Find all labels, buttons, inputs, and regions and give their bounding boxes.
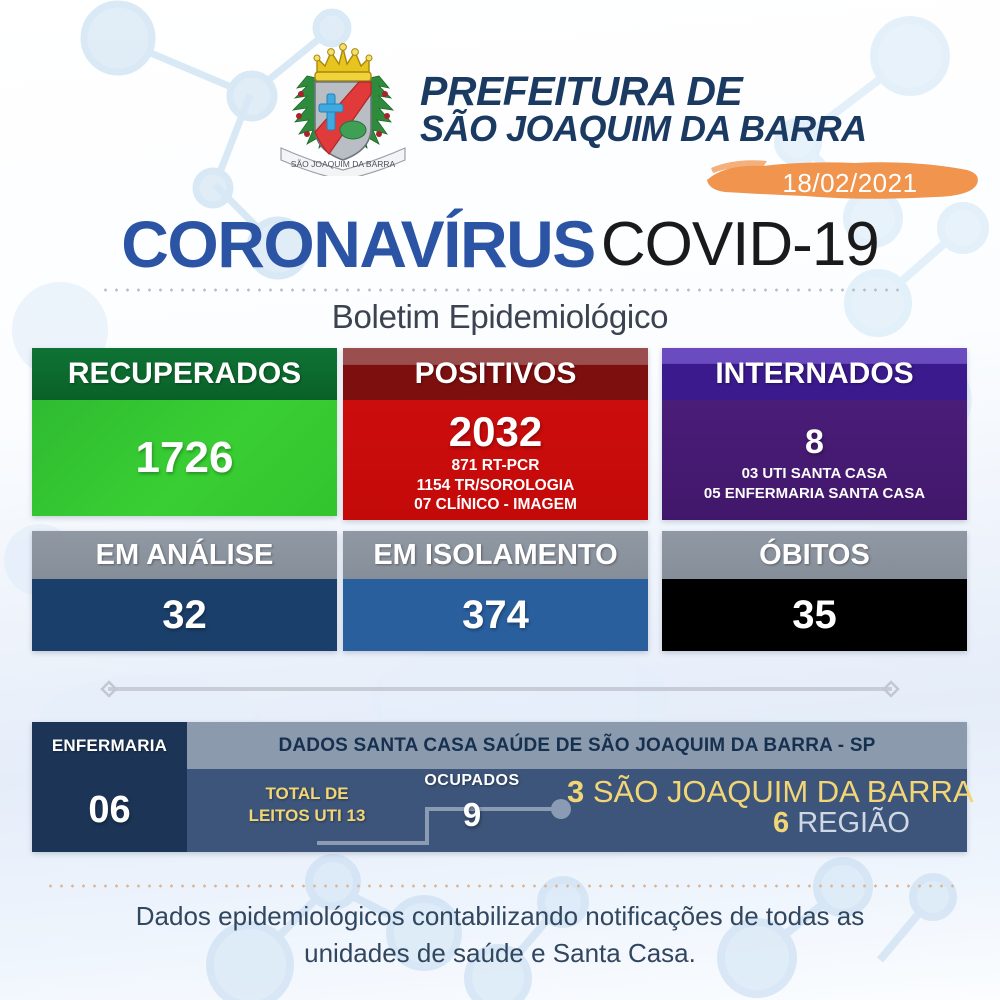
total-leitos-line1: TOTAL DE (217, 783, 397, 805)
title-dotted-divider (100, 288, 900, 292)
santa-casa-enfermaria-label: ENFERMARIA (32, 722, 187, 769)
santa-casa-title: DADOS SANTA CASA SAÚDE DE SÃO JOAQUIM DA… (187, 722, 967, 769)
breakdown-regiao-text: REGIÃO (797, 807, 910, 839)
stat-card-recuperados-value: 1726 (136, 436, 234, 480)
santa-casa-ocupados-value: 9 (392, 796, 552, 834)
santa-casa-enfermaria-value: 06 (32, 769, 187, 852)
stat-card-obitos: ÓBITOS 35 (662, 531, 967, 651)
stat-card-internados-label: INTERNADOS (662, 348, 967, 400)
footer-dotted-divider (45, 884, 955, 888)
positivos-detail-1: 871 RT-PCR (414, 456, 577, 476)
internados-detail-2: 05 ENFERMARIA SANTA CASA (704, 484, 925, 503)
footer-note-line1: Dados epidemiológicos contabilizando not… (60, 898, 940, 935)
stat-card-obitos-label: ÓBITOS (662, 531, 967, 579)
stat-card-internados-value: 8 (805, 425, 824, 459)
santa-casa-ocupados-label: OCUPADOS (392, 772, 552, 790)
stat-card-em-analise: EM ANÁLISE 32 (32, 531, 337, 651)
section-divider (92, 680, 908, 698)
municipality-title: PREFEITURA DE SÃO JOAQUIM DA BARRA (420, 72, 940, 147)
stat-card-em-analise-body: 32 (32, 579, 337, 651)
footer-note: Dados epidemiológicos contabilizando not… (60, 898, 940, 972)
stat-card-positivos-body: 2032 871 RT-PCR 1154 TR/SOROLOGIA 07 CLÍ… (343, 400, 648, 520)
prefeitura-line2: SÃO JOAQUIM DA BARRA (420, 112, 940, 147)
stat-card-internados-body: 8 03 UTI SANTA CASA 05 ENFERMARIA SANTA … (662, 400, 967, 520)
stat-card-em-analise-label: EM ANÁLISE (32, 531, 337, 579)
stat-card-em-analise-value: 32 (162, 595, 207, 635)
title-coronavirus: CORONAVÍRUS (121, 206, 595, 282)
stat-card-obitos-value: 35 (792, 595, 837, 635)
breakdown-local-text: SÃO JOAQUIM DA BARRA (593, 774, 974, 809)
stat-card-internados-details: 03 UTI SANTA CASA 05 ENFERMARIA SANTA CA… (704, 464, 925, 502)
stat-card-recuperados: RECUPERADOS 1726 (32, 348, 337, 516)
svg-text:SÃO JOAQUIM DA BARRA: SÃO JOAQUIM DA BARRA (291, 159, 396, 169)
breakdown-regiao-number: 6 (773, 807, 789, 839)
page-subtitle: Boletim Epidemiológico (0, 298, 1000, 336)
breakdown-row-regiao: 6 REGIÃO (567, 808, 962, 839)
stat-card-em-isolamento-label: EM ISOLAMENTO (343, 531, 648, 579)
page-title: CORONAVÍRUS COVID-19 (0, 208, 1000, 280)
stat-card-positivos: POSITIVOS 2032 871 RT-PCR 1154 TR/SOROLO… (343, 348, 648, 520)
breakdown-local-number: 3 (567, 774, 584, 809)
positivos-detail-3: 07 CLÍNICO - IMAGEM (414, 495, 577, 515)
page-header: SÃO JOAQUIM DA BARRA PREFEITURA DE SÃO J… (0, 0, 1000, 200)
title-covid19: COVID-19 (601, 209, 879, 280)
prefeitura-line1: PREFEITURA DE (420, 72, 940, 112)
coat-of-arms-icon: SÃO JOAQUIM DA BARRA (277, 36, 409, 176)
breakdown-row-local: 3 SÃO JOAQUIM DA BARRA (567, 775, 962, 808)
stat-card-recuperados-body: 1726 (32, 400, 337, 516)
stat-card-positivos-value: 2032 (449, 411, 542, 453)
santa-casa-metrics: TOTAL DE LEITOS UTI 13 OCUPADOS 9 3 SÃO … (187, 769, 967, 852)
stat-card-em-isolamento: EM ISOLAMENTO 374 (343, 531, 648, 651)
positivos-detail-2: 1154 TR/SOROLOGIA (414, 476, 577, 496)
stat-card-positivos-label: POSITIVOS (343, 348, 648, 400)
stat-card-obitos-body: 35 (662, 579, 967, 651)
stat-card-internados: INTERNADOS 8 03 UTI SANTA CASA 05 ENFERM… (662, 348, 967, 520)
stat-card-em-isolamento-value: 374 (462, 595, 529, 635)
santa-casa-data-column: DADOS SANTA CASA SAÚDE DE SÃO JOAQUIM DA… (187, 722, 967, 852)
footer-note-line2: unidades de saúde e Santa Casa. (60, 935, 940, 972)
internados-detail-1: 03 UTI SANTA CASA (704, 464, 925, 483)
stat-card-positivos-details: 871 RT-PCR 1154 TR/SOROLOGIA 07 CLÍNICO … (414, 456, 577, 515)
bulletin-date: 18/02/2021 (760, 168, 940, 199)
santa-casa-panel: ENFERMARIA 06 DADOS SANTA CASA SAÚDE DE … (32, 722, 967, 852)
santa-casa-breakdown: 3 SÃO JOAQUIM DA BARRA 6 REGIÃO (567, 775, 962, 840)
total-leitos-line2: LEITOS UTI 13 (217, 805, 397, 827)
stat-card-em-isolamento-body: 374 (343, 579, 648, 651)
santa-casa-enfermaria-column: ENFERMARIA 06 (32, 722, 187, 852)
santa-casa-total-leitos-label: TOTAL DE LEITOS UTI 13 (217, 783, 397, 827)
stat-card-recuperados-label: RECUPERADOS (32, 348, 337, 400)
